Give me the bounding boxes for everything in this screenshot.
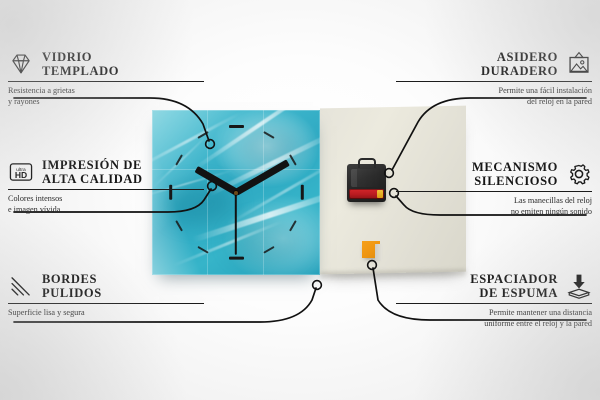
subtitle-line-2: y rayones <box>8 97 204 107</box>
endpoint-marker-impresion <box>208 182 217 191</box>
press-down-icon <box>566 273 592 299</box>
feature-title: ASIDERO DURADERO <box>481 50 558 78</box>
feature-title: ESPACIADOR DE ESPUMA <box>470 272 558 300</box>
feature-heading: VIDRIO TEMPLADO <box>8 50 204 78</box>
divider <box>396 191 592 192</box>
divider <box>8 189 204 190</box>
title-line-1: ASIDERO <box>497 50 558 64</box>
feature-subtitle: Las manecillas del reloj no emiten ningú… <box>396 196 592 217</box>
feature-heading: MECANISMO SILENCIOSO <box>396 160 592 188</box>
endpoint-marker-espaciador <box>368 261 377 270</box>
title-line-1: VIDRIO <box>42 50 92 64</box>
feature-espaciador-de-espuma: ESPACIADOR DE ESPUMA Permite mantener un… <box>396 272 592 329</box>
feature-title: IMPRESIÓN DE ALTA CALIDAD <box>42 158 143 186</box>
feature-heading: ASIDERO DURADERO <box>396 50 592 78</box>
divider <box>396 81 592 82</box>
feature-mecanismo-silencioso: MECANISMO SILENCIOSO Las manecillas del … <box>396 160 592 217</box>
feature-subtitle: Permite mantener una distancia uniforme … <box>396 308 592 329</box>
feature-subtitle: Superficie lisa y segura <box>8 308 204 318</box>
endpoint-marker-bordes <box>313 281 322 290</box>
feature-asidero-duradero: ASIDERO DURADERO Permite una fácil insta… <box>396 50 592 107</box>
feature-heading: ultra HD IMPRESIÓN DE ALTA CALIDAD <box>8 158 204 186</box>
feature-vidrio-templado: VIDRIO TEMPLADO Resistencia a grietas y … <box>8 50 204 107</box>
feature-title: BORDES PULIDOS <box>42 272 102 300</box>
subtitle-line-1: Permite mantener una distancia <box>396 308 592 318</box>
title-line-1: ESPACIADOR <box>470 272 558 286</box>
title-line-2: TEMPLADO <box>42 64 119 78</box>
title-line-2: ALTA CALIDAD <box>42 172 143 186</box>
feature-title: MECANISMO SILENCIOSO <box>472 160 558 188</box>
hd-label: HD <box>15 170 27 180</box>
feature-title: VIDRIO TEMPLADO <box>42 50 119 78</box>
title-line-2: SILENCIOSO <box>472 174 558 188</box>
subtitle-line-1: Superficie lisa y segura <box>8 308 204 318</box>
feature-subtitle: Colores intensos e imagen vívida <box>8 194 204 215</box>
title-line-2: PULIDOS <box>42 286 102 300</box>
subtitle-line-2: no emiten ningún sonido <box>396 207 592 217</box>
divider <box>8 81 204 82</box>
subtitle-line-1: Las manecillas del reloj <box>396 196 592 206</box>
feature-subtitle: Permite una fácil instalación del reloj … <box>396 86 592 107</box>
feature-bordes-pulidos: BORDES PULIDOS Superficie lisa y segura <box>8 272 204 319</box>
subtitle-line-1: Resistencia a grietas <box>8 86 204 96</box>
title-line-1: MECANISMO <box>472 160 558 174</box>
feature-heading: BORDES PULIDOS <box>8 272 204 300</box>
subtitle-line-1: Colores intensos <box>8 194 204 204</box>
ultra-hd-icon: ultra HD <box>8 159 34 185</box>
subtitle-line-2: uniforme entre el reloj y la pared <box>396 319 592 329</box>
diamond-icon <box>8 51 34 77</box>
title-line-2: DE ESPUMA <box>470 286 558 300</box>
endpoint-marker-asidero <box>385 169 394 178</box>
subtitle-line-1: Permite una fácil instalación <box>396 86 592 96</box>
infographic-canvas: VIDRIO TEMPLADO Resistencia a grietas y … <box>0 0 600 400</box>
feature-impresion-alta-calidad: ultra HD IMPRESIÓN DE ALTA CALIDAD Color… <box>8 158 204 215</box>
title-line-2: DURADERO <box>481 64 558 78</box>
endpoint-marker-vidrio <box>206 140 215 149</box>
feature-heading: ESPACIADOR DE ESPUMA <box>396 272 592 300</box>
subtitle-line-2: e imagen vívida <box>8 205 204 215</box>
subtitle-line-2: del reloj en la pared <box>396 97 592 107</box>
title-line-1: IMPRESIÓN DE <box>42 158 142 172</box>
hanging-frame-icon <box>566 51 592 77</box>
gear-icon <box>566 161 592 187</box>
divider <box>8 303 204 304</box>
diagonal-lines-icon <box>8 273 34 299</box>
feature-subtitle: Resistencia a grietas y rayones <box>8 86 204 107</box>
divider <box>396 303 592 304</box>
title-line-1: BORDES <box>42 272 97 286</box>
